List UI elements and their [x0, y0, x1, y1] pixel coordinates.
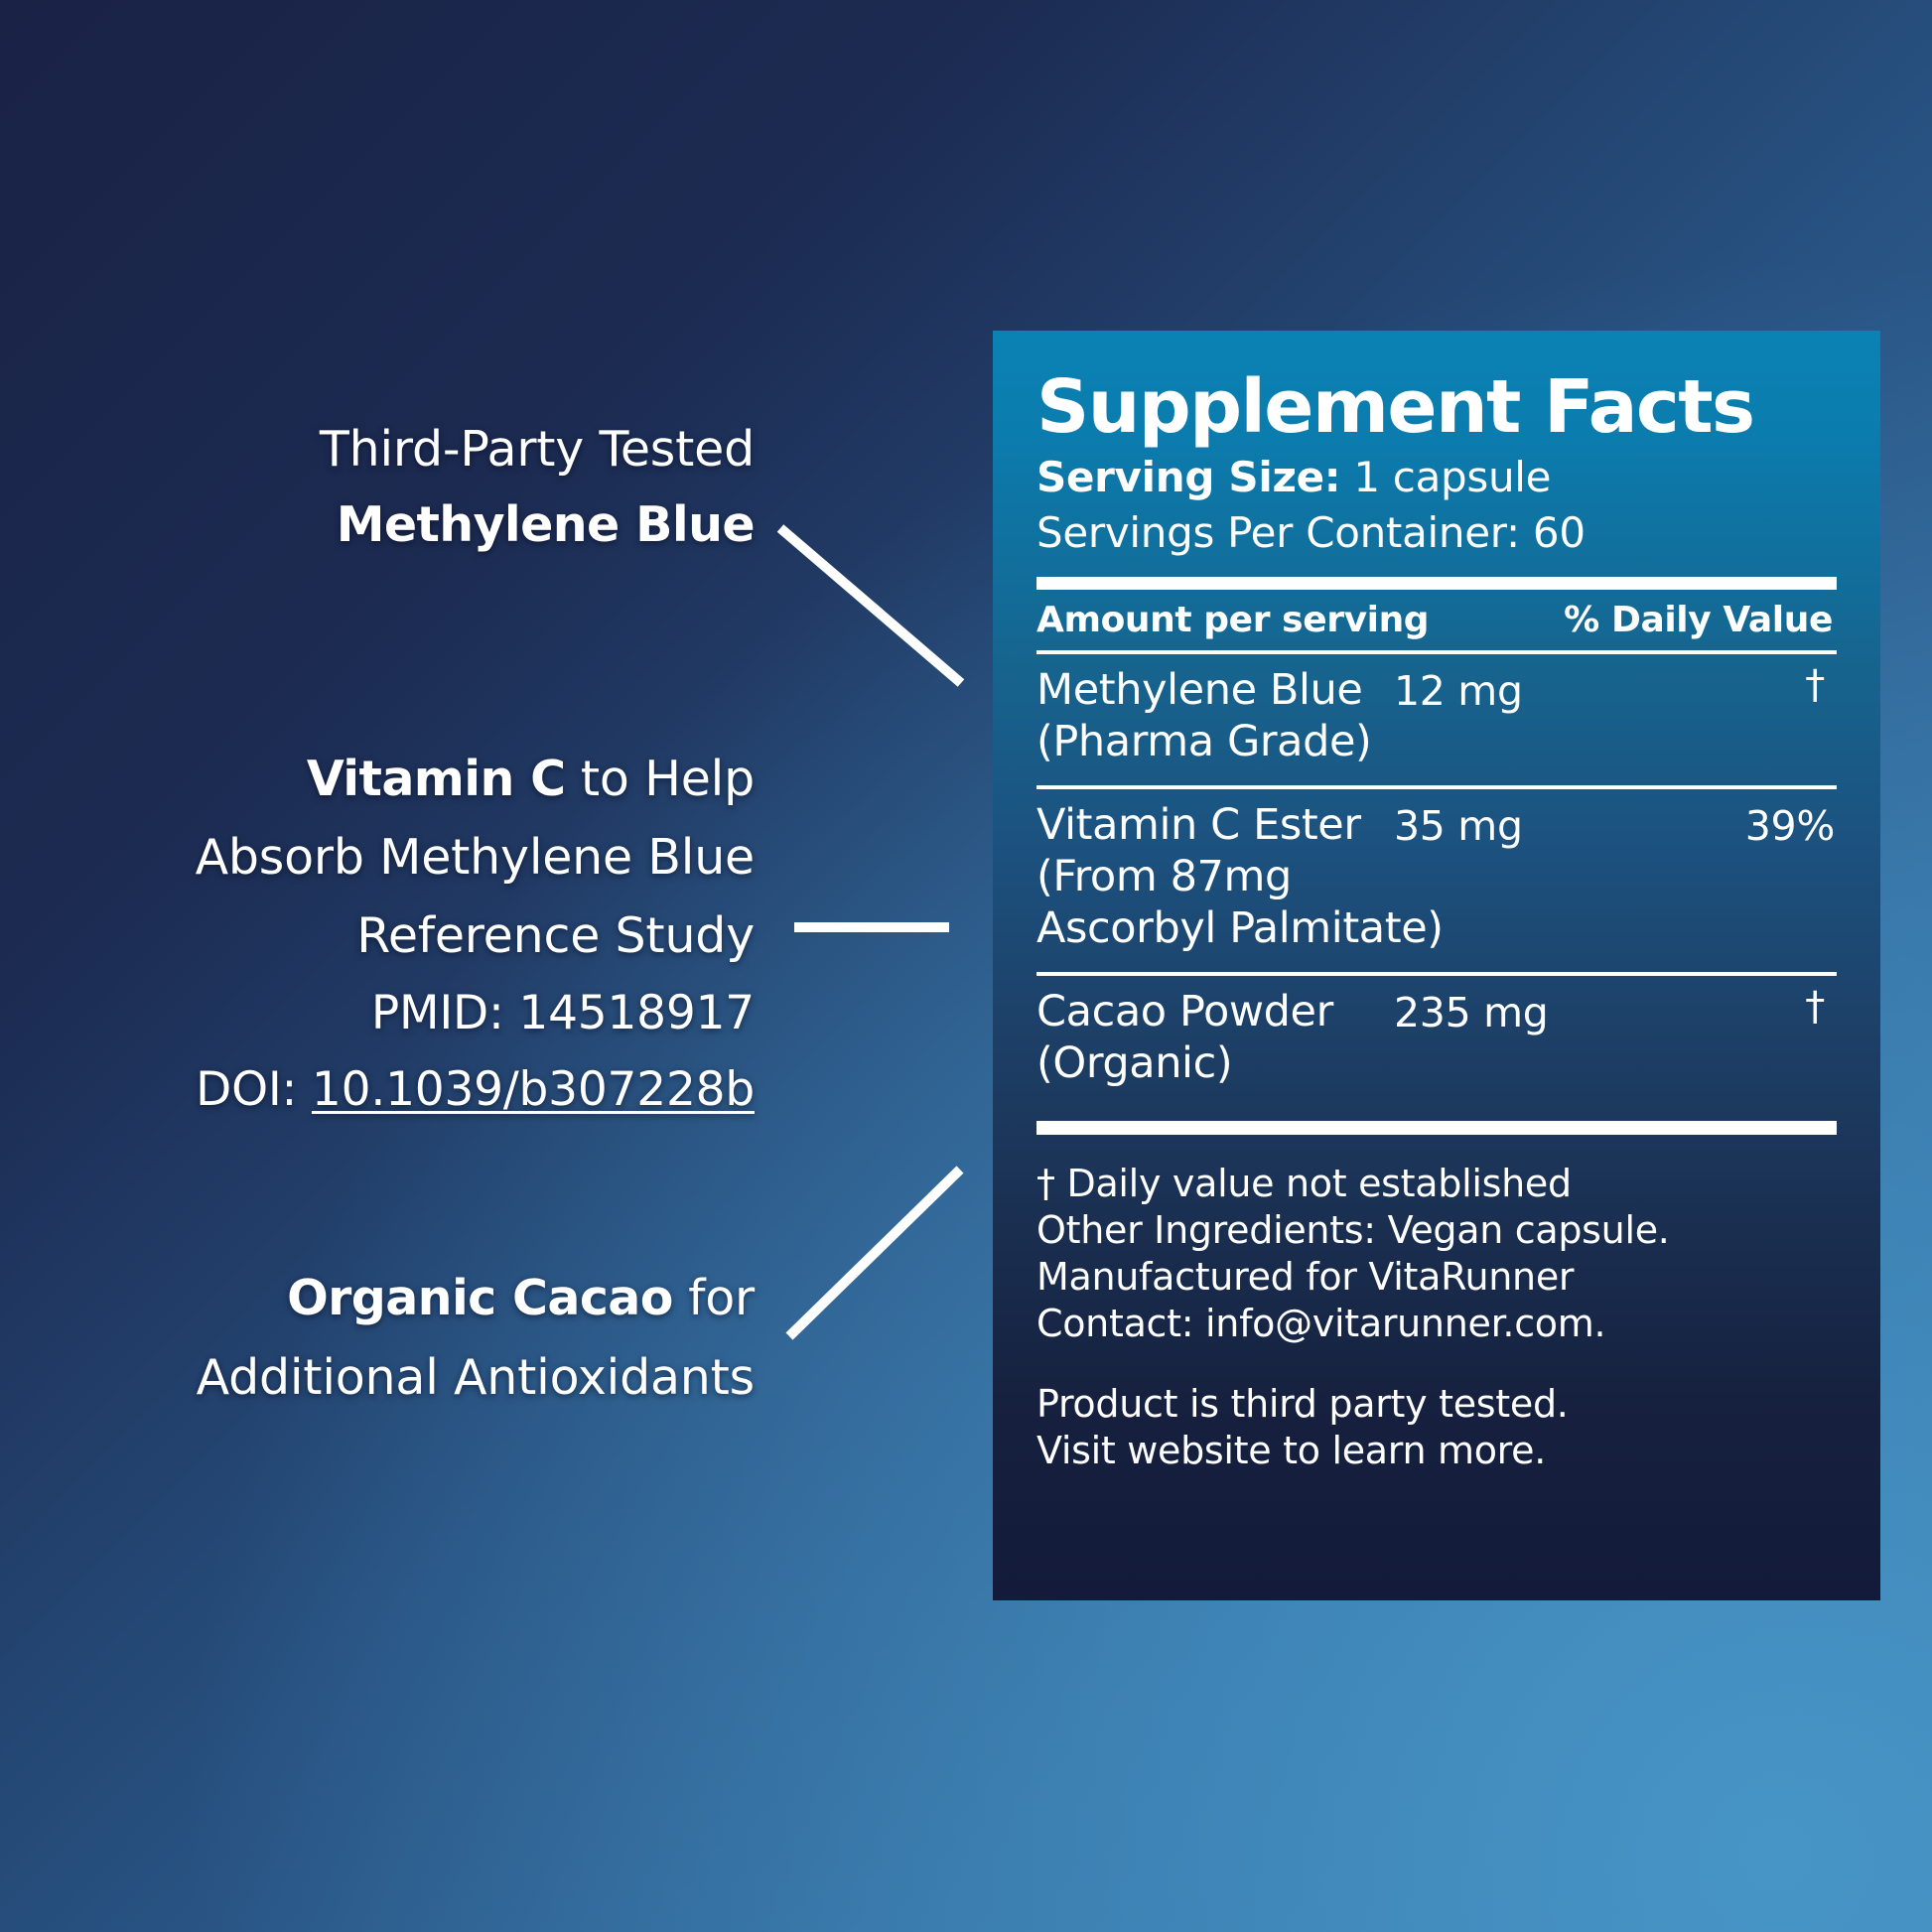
ingredient-name: Cacao Powder (Organic) — [1036, 986, 1394, 1089]
ingredient-amount: 35 mg — [1394, 801, 1523, 851]
footnote-daily-value: † Daily value not established — [1036, 1161, 1837, 1207]
ingredient-name-line: Methylene Blue — [1036, 664, 1394, 716]
annotation-line: Vitamin C to Help — [196, 740, 755, 818]
ingredient-name-line: (From 87mg — [1036, 851, 1394, 902]
annotation-rest: to Help — [566, 751, 755, 807]
ingredient-name-line: (Pharma Grade) — [1036, 716, 1394, 767]
ingredient-row: Methylene Blue (Pharma Grade) 12 mg † — [1036, 654, 1837, 785]
serving-size-value: 1 capsule — [1340, 453, 1551, 501]
footer-spacer — [1036, 1347, 1837, 1381]
column-header-amount: Amount per serving — [1036, 600, 1429, 640]
annotation-line: Organic Cacao for — [197, 1259, 755, 1338]
doi-label: DOI: — [196, 1062, 312, 1117]
connector-methylene-blue — [780, 528, 961, 683]
annotation-emphasis: Organic Cacao — [287, 1270, 673, 1326]
footnote-visit-website: Visit website to learn more. — [1036, 1428, 1837, 1474]
ingredient-name-line: Ascorbyl Palmitate) — [1036, 902, 1394, 954]
connector-cacao — [789, 1170, 960, 1336]
ingredient-daily-value: † — [1805, 982, 1825, 1032]
supplement-facts-footer: † Daily value not established Other Ingr… — [1036, 1135, 1837, 1474]
annotation-pmid: PMID: 14518917 — [196, 975, 755, 1051]
annotation-line: Third-Party Tested — [320, 412, 755, 487]
column-header-daily-value: % Daily Value — [1564, 600, 1837, 640]
annotation-doi: DOI: 10.1039/b307228b — [196, 1051, 755, 1128]
ingredient-name: Vitamin C Ester (From 87mg Ascorbyl Palm… — [1036, 799, 1394, 954]
annotation-third-party-tested: Third-Party Tested Methylene Blue — [320, 412, 755, 563]
serving-size-label: Serving Size: — [1036, 453, 1340, 501]
footnote-contact: Contact: info@vitarunner.com. — [1036, 1301, 1837, 1347]
annotation-organic-cacao: Organic Cacao for Additional Antioxidant… — [197, 1259, 755, 1418]
footnote-manufactured-for: Manufactured for VitaRunner — [1036, 1254, 1837, 1301]
ingredient-row: Cacao Powder (Organic) 235 mg † — [1036, 976, 1837, 1107]
rule-thick-bottom — [1036, 1121, 1837, 1135]
ingredient-row: Vitamin C Ester (From 87mg Ascorbyl Palm… — [1036, 789, 1837, 972]
doi-link[interactable]: 10.1039/b307228b — [312, 1062, 755, 1117]
infographic-canvas: Third-Party Tested Methylene Blue Vitami… — [0, 0, 1932, 1932]
footnote-third-party-tested: Product is third party tested. — [1036, 1381, 1837, 1428]
ingredient-amount: 12 mg — [1394, 666, 1523, 716]
ingredient-daily-value: † — [1805, 660, 1825, 710]
annotation-line-bold: Methylene Blue — [320, 487, 755, 563]
ingredient-name-line: Cacao Powder — [1036, 986, 1394, 1037]
annotation-line: Additional Antioxidants — [197, 1338, 755, 1418]
annotation-column: Third-Party Tested Methylene Blue Vitami… — [0, 0, 764, 1932]
annotation-vitamin-c-reference: Vitamin C to Help Absorb Methylene Blue … — [196, 740, 755, 1128]
servings-per-container: Servings Per Container: 60 — [1036, 505, 1837, 561]
annotation-line: Reference Study — [196, 897, 755, 975]
annotation-line: Absorb Methylene Blue — [196, 818, 755, 897]
ingredient-amount: 235 mg — [1394, 988, 1548, 1037]
footnote-other-ingredients: Other Ingredients: Vegan capsule. — [1036, 1207, 1837, 1254]
ingredient-daily-value: 39% — [1745, 801, 1835, 851]
supplement-facts-title: Supplement Facts — [1036, 366, 1837, 448]
serving-size-line: Serving Size: 1 capsule — [1036, 450, 1837, 505]
ingredient-name-line: Vitamin C Ester — [1036, 799, 1394, 851]
ingredient-name-line: (Organic) — [1036, 1037, 1394, 1089]
ingredient-name: Methylene Blue (Pharma Grade) — [1036, 664, 1394, 767]
rule-thick-top — [1036, 577, 1837, 590]
column-headers: Amount per serving % Daily Value — [1036, 596, 1837, 650]
supplement-facts-panel: Supplement Facts Serving Size: 1 capsule… — [993, 331, 1880, 1600]
annotation-rest: for — [673, 1270, 755, 1326]
annotation-emphasis: Vitamin C — [307, 751, 566, 807]
